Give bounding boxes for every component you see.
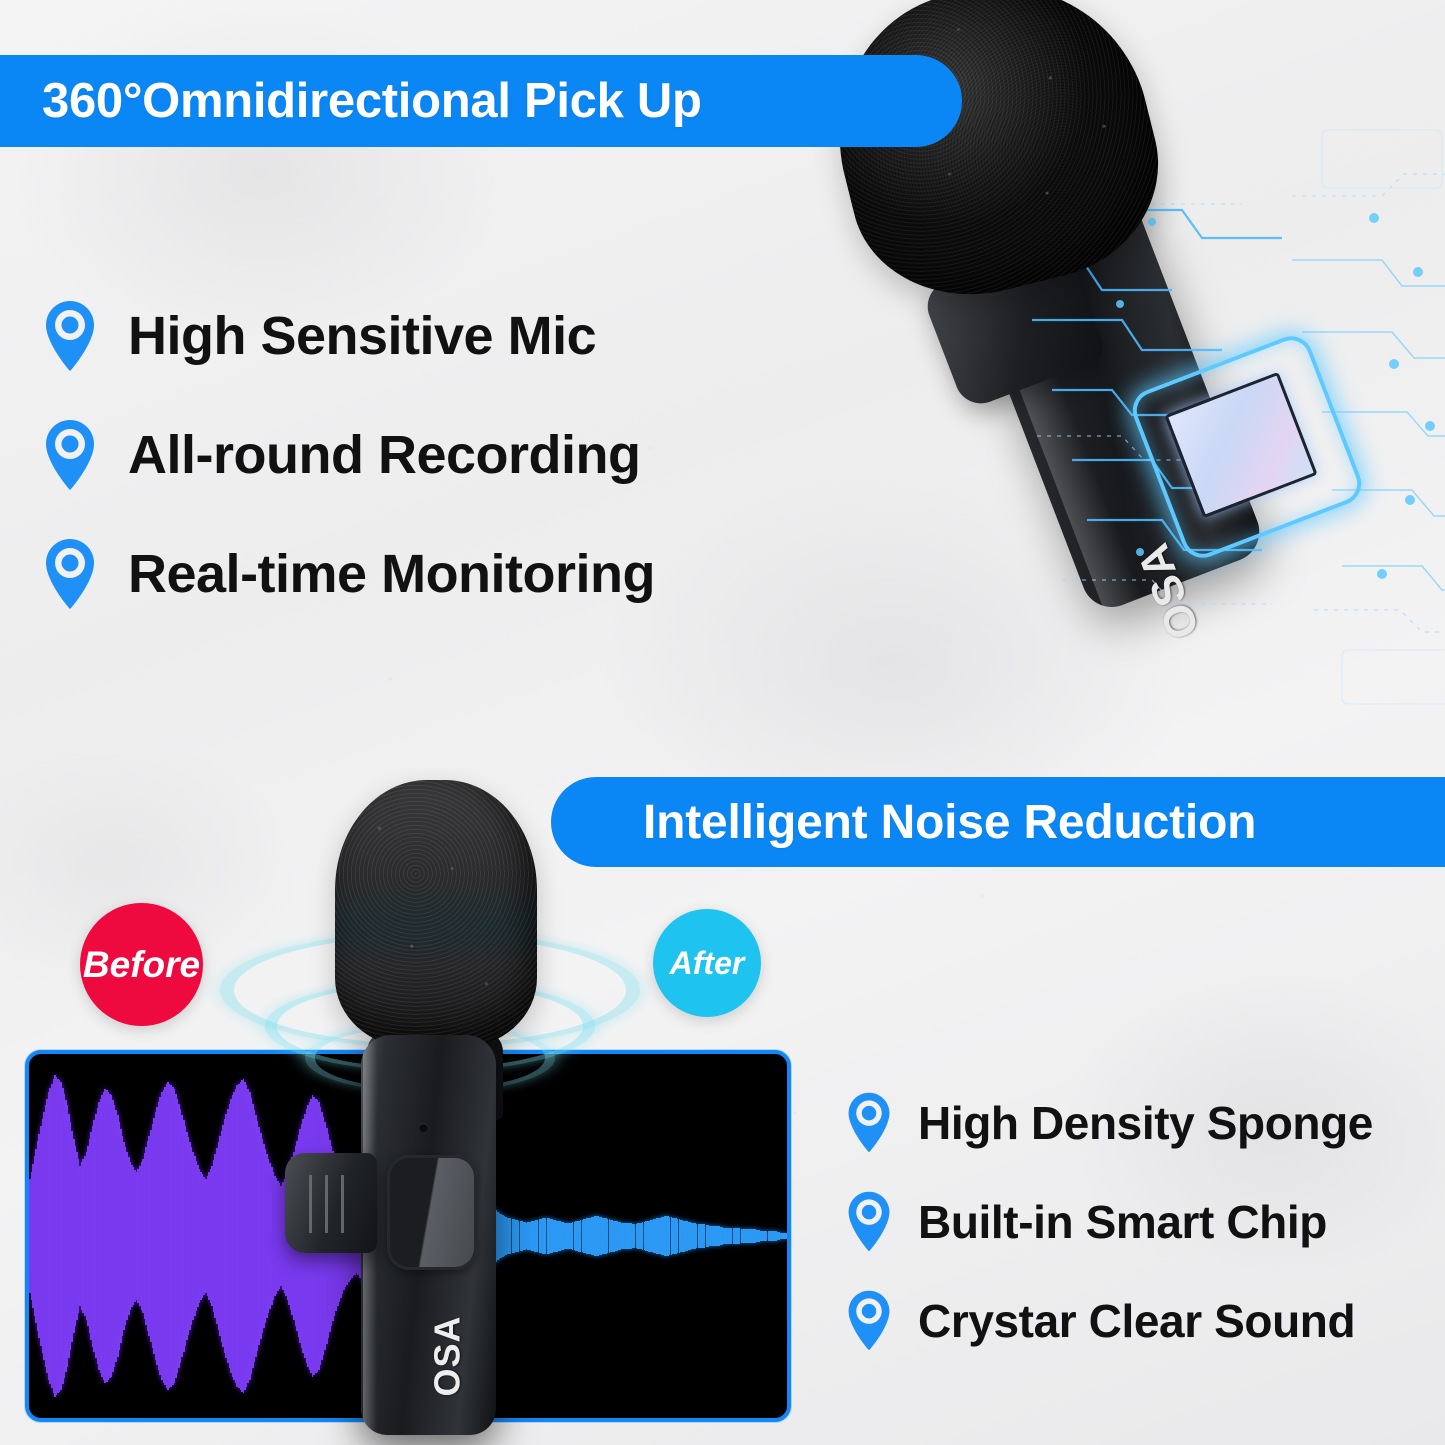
map-pin-icon	[42, 418, 98, 492]
banner-omnidirectional-text: 360°Omnidirectional Pick Up	[42, 73, 702, 129]
feature-item: High Density Sponge	[845, 1073, 1373, 1172]
microphone-clip-bottom	[285, 1153, 377, 1253]
after-badge-label: After	[670, 945, 745, 982]
feature-label: High Sensitive Mic	[128, 309, 596, 363]
feature-label: Real-time Monitoring	[128, 547, 655, 601]
brand-logo-bottom: OSA	[427, 1315, 469, 1396]
map-pin-icon	[845, 1289, 893, 1352]
microphone-button	[387, 1155, 477, 1270]
product-infographic: 360°Omnidirectional Pick Up	[0, 0, 1445, 1445]
clip-grill-icon	[309, 1175, 353, 1233]
before-badge: Before	[80, 903, 203, 1026]
microphone-product-bottom: OSA	[281, 1035, 551, 1445]
feature-list-bottom: High Density Sponge Built-in Smart Chip …	[845, 1073, 1373, 1370]
feature-list-top: High Sensitive Mic All-round Recording R…	[42, 276, 655, 633]
feature-item: Crystar Clear Sound	[845, 1271, 1373, 1370]
feature-label: High Density Sponge	[918, 1100, 1373, 1146]
feature-label: All-round Recording	[128, 428, 640, 482]
map-pin-icon	[845, 1091, 893, 1154]
feature-item: All-round Recording	[42, 395, 655, 514]
feature-item: High Sensitive Mic	[42, 276, 655, 395]
feature-item: Built-in Smart Chip	[845, 1172, 1373, 1271]
after-badge: After	[653, 909, 761, 1017]
before-badge-label: Before	[83, 944, 200, 986]
map-pin-icon	[42, 537, 98, 611]
banner-noise-reduction-text: Intelligent Noise Reduction	[643, 795, 1256, 850]
microphone-foam-center	[335, 780, 537, 1048]
map-pin-icon	[845, 1190, 893, 1253]
feature-label: Crystar Clear Sound	[918, 1298, 1355, 1344]
feature-item: Real-time Monitoring	[42, 514, 655, 633]
feature-label: Built-in Smart Chip	[918, 1199, 1327, 1245]
banner-omnidirectional-pickup: 360°Omnidirectional Pick Up	[0, 55, 962, 147]
map-pin-icon	[42, 299, 98, 373]
led-indicator-icon	[419, 1123, 428, 1132]
banner-noise-reduction: Intelligent Noise Reduction	[551, 777, 1445, 867]
